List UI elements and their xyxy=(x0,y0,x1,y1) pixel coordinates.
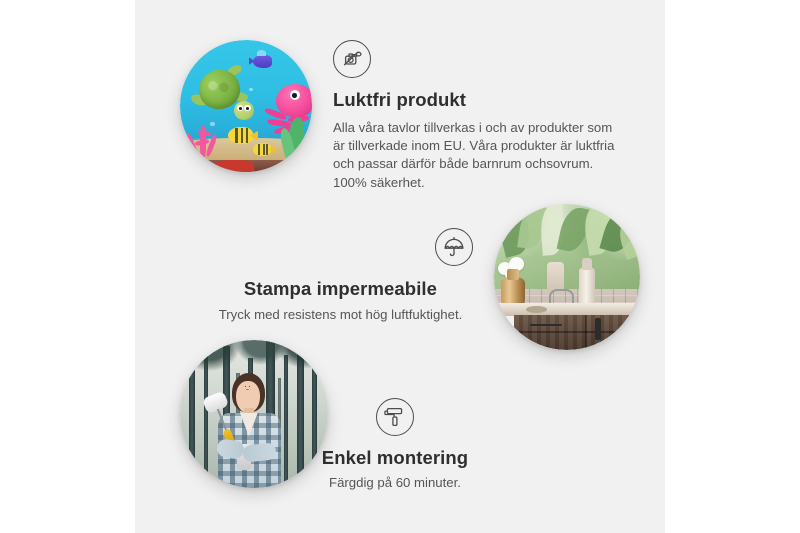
no-perfume-icon xyxy=(333,40,371,78)
fish-stripe xyxy=(266,144,268,155)
eye xyxy=(249,386,250,387)
coral-branch xyxy=(195,138,210,146)
coral-icon xyxy=(185,121,222,161)
blue-fish-icon xyxy=(253,55,273,68)
octopus-eye xyxy=(290,90,300,100)
fish-stripe xyxy=(263,144,265,155)
turtle-head xyxy=(234,101,254,120)
drawer-divider xyxy=(514,331,640,333)
drawer-handle xyxy=(530,324,563,327)
fish-fin xyxy=(257,50,266,56)
turtle-icon xyxy=(195,68,253,123)
feature-title: Stampa impermeabile xyxy=(208,278,473,300)
yellow-fish-icon xyxy=(253,143,271,156)
feature-waterproof-print: Stampa impermeabile Tryck med resistens … xyxy=(208,228,473,324)
cabinet-handle xyxy=(595,318,601,341)
fish-stripe xyxy=(235,128,238,142)
feature-body: Färgdig på 60 minuter. xyxy=(280,474,510,492)
ocean-photo-inner xyxy=(180,40,312,172)
woman-figure xyxy=(216,373,284,488)
feature-odour-free: Luktfri produkt Alla våra tavlor tillver… xyxy=(333,40,623,192)
bathroom-photo-inner xyxy=(494,204,640,350)
photo-bathroom-tropical-wallpaper[interactable] xyxy=(494,204,640,350)
feature-easy-mounting: Enkel montering Färgdig på 60 minuter. xyxy=(280,398,510,492)
octopus-body xyxy=(276,84,312,118)
coral-branch xyxy=(205,134,218,157)
yellow-fish-icon xyxy=(228,127,253,144)
smile xyxy=(246,389,249,390)
fish-stripe xyxy=(241,128,244,142)
umbrella-icon xyxy=(435,228,473,266)
fish-stripe xyxy=(246,128,249,142)
bathroom-mirror xyxy=(547,262,565,291)
turtle-eye xyxy=(244,105,251,111)
feature-title: Luktfri produkt xyxy=(333,89,623,111)
screenshot-root: Luktfri produkt Alla våra tavlor tillver… xyxy=(0,0,800,533)
paint-roller-icon xyxy=(376,398,414,436)
photo-ocean-kids-mural[interactable] xyxy=(180,40,312,172)
feature-body: Tryck med resistens mot hög luftfuktighe… xyxy=(208,306,473,324)
feature-body: Alla våra tavlor tillverkas i och av pro… xyxy=(333,119,623,192)
cabinet-divider xyxy=(585,315,587,350)
turtle-eye xyxy=(237,105,244,111)
wooden-vanity-cabinet xyxy=(514,315,640,350)
ocean-floor-accent xyxy=(214,160,254,172)
feature-title: Enkel montering xyxy=(280,447,510,469)
eye xyxy=(245,386,246,387)
fish-stripe xyxy=(258,144,260,155)
